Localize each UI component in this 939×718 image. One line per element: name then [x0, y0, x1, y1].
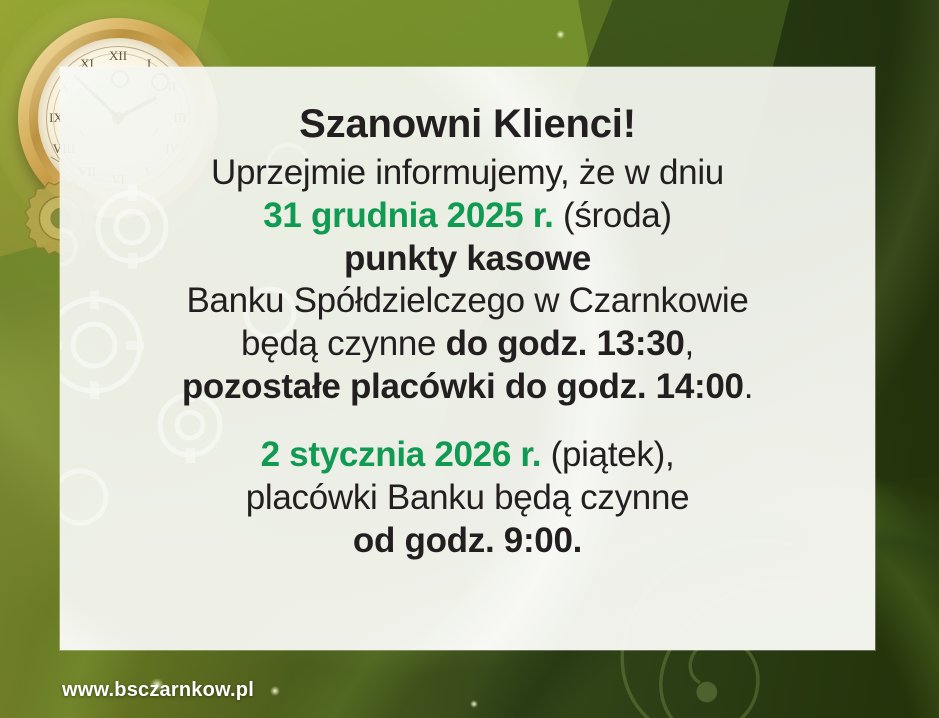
notice-line-2: 31 grudnia 2025 r. (środa) — [78, 195, 857, 238]
closing-time-branches: pozostałe placówki do godz. 14:00 — [182, 367, 744, 406]
notice-line-1: Uprzejmie informujemy, że w dniu — [78, 152, 857, 195]
cash-points-label: punkty kasowe — [344, 239, 591, 278]
notice-line-8: placówki Banku będą czynne — [78, 477, 857, 520]
page-title: Szanowni Klienci! — [78, 103, 857, 146]
notice-line-9: od godz. 9:00. — [78, 520, 857, 563]
notice-line-3: punkty kasowe — [78, 238, 857, 281]
notice-line-7: 2 stycznia 2026 r. (piątek), — [78, 434, 857, 477]
glow-dot — [556, 30, 565, 39]
content-panel: Szanowni Klienci! Uprzejmie informujemy,… — [60, 67, 875, 650]
bank-name: Banku Spółdzielczego w Czarnkowie — [186, 281, 748, 320]
notice-paragraph-second: 2 stycznia 2026 r. (piątek), placówki Ba… — [78, 434, 857, 562]
notice-paragraph-first: Uprzejmie informujemy, że w dniu 31 grud… — [78, 152, 857, 408]
notice-line-4: Banku Spółdzielczego w Czarnkowie — [78, 280, 857, 323]
notice-content: Szanowni Klienci! Uprzejmie informujemy,… — [60, 103, 875, 562]
poster-canvas: XII I II III IV V VI VII VIII IX X XI — [0, 0, 939, 718]
weekday-wednesday: (środa) — [554, 196, 672, 235]
glow-dot — [470, 700, 478, 708]
date-highlight-december: 31 grudnia 2025 r. — [263, 196, 553, 235]
notice-line-6: pozostałe placówki do godz. 14:00. — [78, 366, 857, 409]
opening-time-branches: od godz. 9:00. — [353, 521, 582, 560]
notice-line-5: będą czynne do godz. 13:30, — [78, 323, 857, 366]
glow-dot — [270, 686, 280, 696]
weekday-friday: (piątek), — [541, 435, 674, 474]
closing-time-cash-points: do godz. 13:30 — [446, 324, 685, 363]
date-highlight-january: 2 stycznia 2026 r. — [261, 435, 542, 474]
website-url[interactable]: www.bsczarnkow.pl — [62, 679, 254, 702]
